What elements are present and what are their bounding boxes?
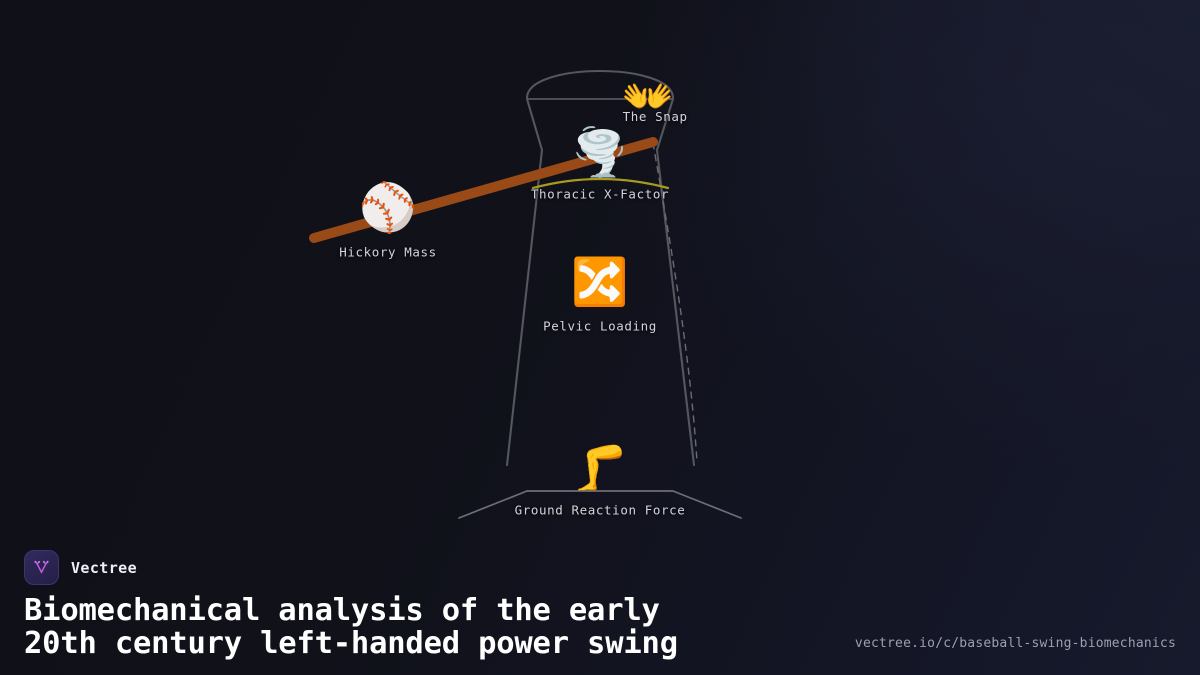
- counterclockwise-arrows-icon: 🔀: [571, 259, 628, 305]
- footer: Vectree Biomechanical analysis of the ea…: [0, 540, 1200, 675]
- node-pelvic-loading[interactable]: 🔀 Pelvic Loading: [543, 259, 657, 334]
- node-the-snap[interactable]: 🌪️ The Snap: [571, 129, 628, 175]
- node-hickory-mass[interactable]: ⚾ Hickory Mass: [339, 185, 437, 260]
- leg-icon: 🦵: [573, 447, 628, 491]
- node-the-snap-label: The Snap: [623, 109, 688, 124]
- brand-name: Vectree: [71, 559, 137, 577]
- node-thoracic-x-factor[interactable]: Thoracic X-Factor: [531, 187, 669, 202]
- screenshot-canvas: 👐 ⚾ Hickory Mass 🌪️ The Snap Thoracic X-…: [0, 0, 1200, 675]
- vectree-logo-icon: [24, 550, 59, 585]
- node-ground-reaction-force-label: Ground Reaction Force: [515, 503, 686, 518]
- footer-url: vectree.io/c/baseball-swing-biomechanics: [855, 636, 1176, 661]
- tornado-icon: 🌪️: [571, 129, 628, 175]
- page-title: Biomechanical analysis of the early 20th…: [24, 595, 678, 661]
- node-thoracic-x-factor-label: Thoracic X-Factor: [531, 187, 669, 202]
- baseball-icon: ⚾: [359, 185, 418, 232]
- node-hickory-mass-label: Hickory Mass: [339, 245, 437, 260]
- headline-row: Biomechanical analysis of the early 20th…: [24, 595, 1176, 661]
- node-pelvic-loading-label: Pelvic Loading: [543, 319, 657, 334]
- node-ground-reaction-force[interactable]: 🦵 Ground Reaction Force: [515, 447, 686, 518]
- brand-row: Vectree: [24, 540, 1176, 585]
